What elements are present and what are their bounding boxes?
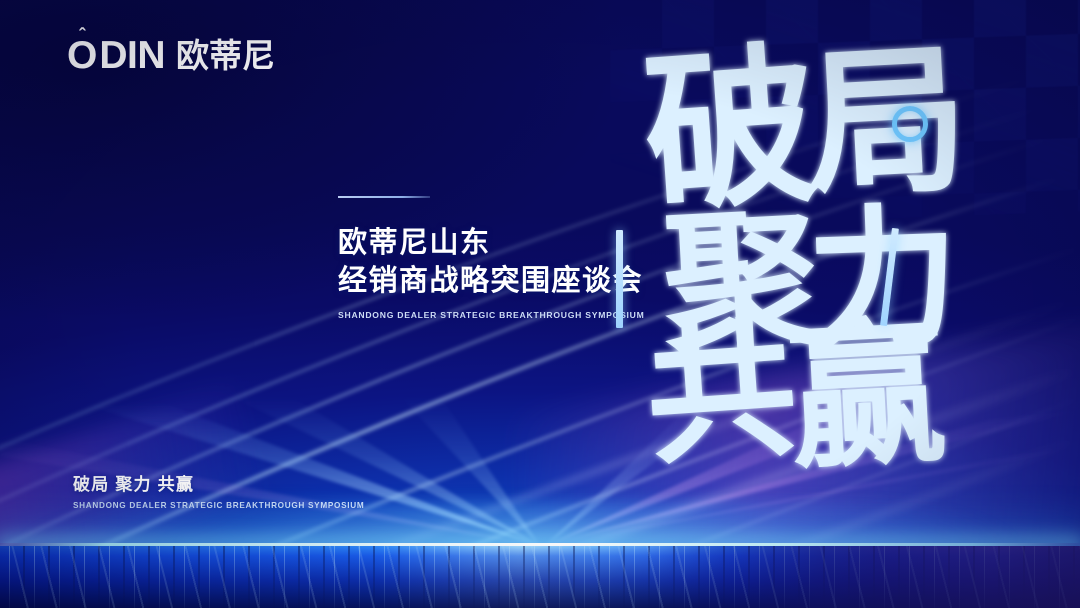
logo-latin-text: DIN <box>99 36 165 75</box>
tagline-chinese: 破局 聚力 共赢 <box>73 470 364 495</box>
logo-chinese-text: 欧蒂尼 <box>176 39 275 72</box>
ground-right-shadow <box>650 546 1080 608</box>
tagline-english: SHANDONG DEALER STRATEGIC BREAKTHROUGH S… <box>73 501 364 510</box>
calligraphy-row-3: 共 <box>641 302 803 486</box>
vertical-bar-left <box>616 230 623 328</box>
poster-canvas: ˆ O DIN 欧蒂尼 欧蒂尼山东 经销商战略突围座谈会 SHANDONG DE… <box>0 0 1080 608</box>
tagline-block: 破局 聚力 共赢 SHANDONG DEALER STRATEGIC BREAK… <box>73 470 364 510</box>
logo-odin[interactable]: ˆ O DIN 欧蒂尼 <box>67 36 275 75</box>
logo-caret-icon: ˆ <box>79 27 85 46</box>
calligraphy-block: 破 局 聚 力 共 赢 <box>585 40 1005 460</box>
title-divider-line <box>338 196 430 198</box>
calligraphy-row-3b: 赢 <box>785 301 950 491</box>
degree-circle-icon <box>892 106 928 142</box>
logo-o-letter: ˆ O <box>67 36 97 75</box>
